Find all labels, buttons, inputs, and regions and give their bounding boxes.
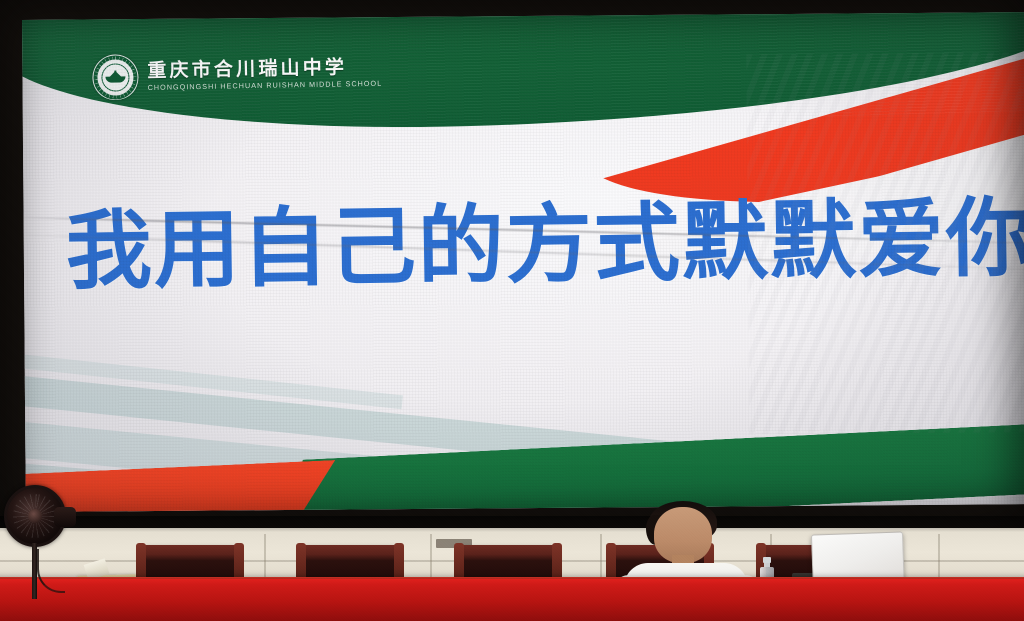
floor-fan [4,485,74,595]
fan-hub [28,509,42,523]
projection-screen: 重庆市合川瑞山中学 CHONGQINGSHI HECHUAN RUISHAN M… [0,0,1024,528]
conference-table [0,579,1024,621]
school-emblem-icon [92,54,139,101]
presentation-slide: 重庆市合川瑞山中学 CHONGQINGSHI HECHUAN RUISHAN M… [22,12,1024,512]
emblem-hull [105,76,125,82]
fan-power-cord [37,549,65,593]
school-name-cn: 重庆市合川瑞山中学 [147,58,382,81]
school-name-block: 重庆市合川瑞山中学 CHONGQINGSHI HECHUAN RUISHAN M… [147,58,382,91]
bottle-cap [763,557,771,563]
school-brand-lockup: 重庆市合川瑞山中学 CHONGQINGSHI HECHUAN RUISHAN M… [92,50,382,101]
slide-title: 我用自己的方式默默爱你 [65,166,1024,306]
fan-motor [54,507,76,527]
photo-scene: 重庆市合川瑞山中学 CHONGQINGSHI HECHUAN RUISHAN M… [0,0,1024,621]
emblem-boat-icon [105,70,125,85]
school-name-en: CHONGQINGSHI HECHUAN RUISHAN MIDDLE SCHO… [148,80,383,92]
screen-drop-shadow [0,516,1024,532]
